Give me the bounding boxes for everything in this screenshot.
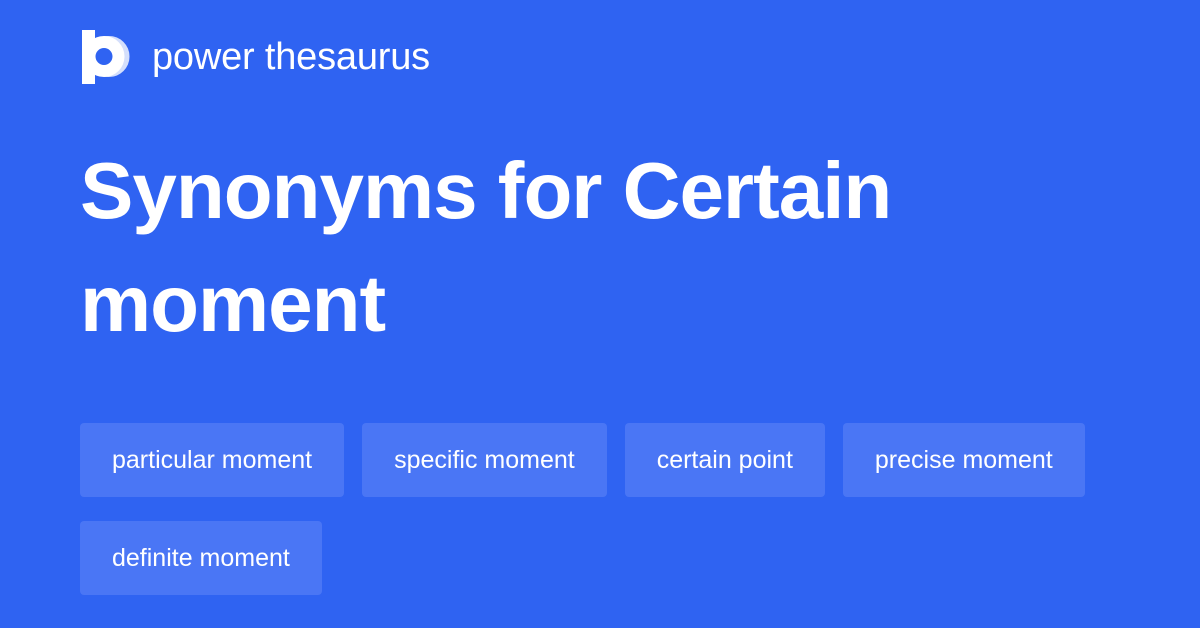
brand-name: power thesaurus — [152, 38, 430, 76]
synonym-chip[interactable]: precise moment — [843, 423, 1085, 497]
page-title-line-2: moment — [80, 247, 1080, 360]
synonym-chip[interactable]: certain point — [625, 423, 825, 497]
synonym-chip-list: particular moment specific moment certai… — [80, 423, 1120, 595]
share-card: power thesaurus Synonyms for Certain mom… — [0, 0, 1200, 628]
synonym-chip[interactable]: specific moment — [362, 423, 607, 497]
synonym-chip[interactable]: particular moment — [80, 423, 344, 497]
page-title-line-1: Synonyms for Certain — [80, 134, 1080, 247]
page-title: Synonyms for Certain moment — [80, 134, 1080, 360]
power-thesaurus-b-logo-icon — [80, 30, 130, 84]
synonym-chip[interactable]: definite moment — [80, 521, 322, 595]
brand-header[interactable]: power thesaurus — [80, 28, 430, 86]
